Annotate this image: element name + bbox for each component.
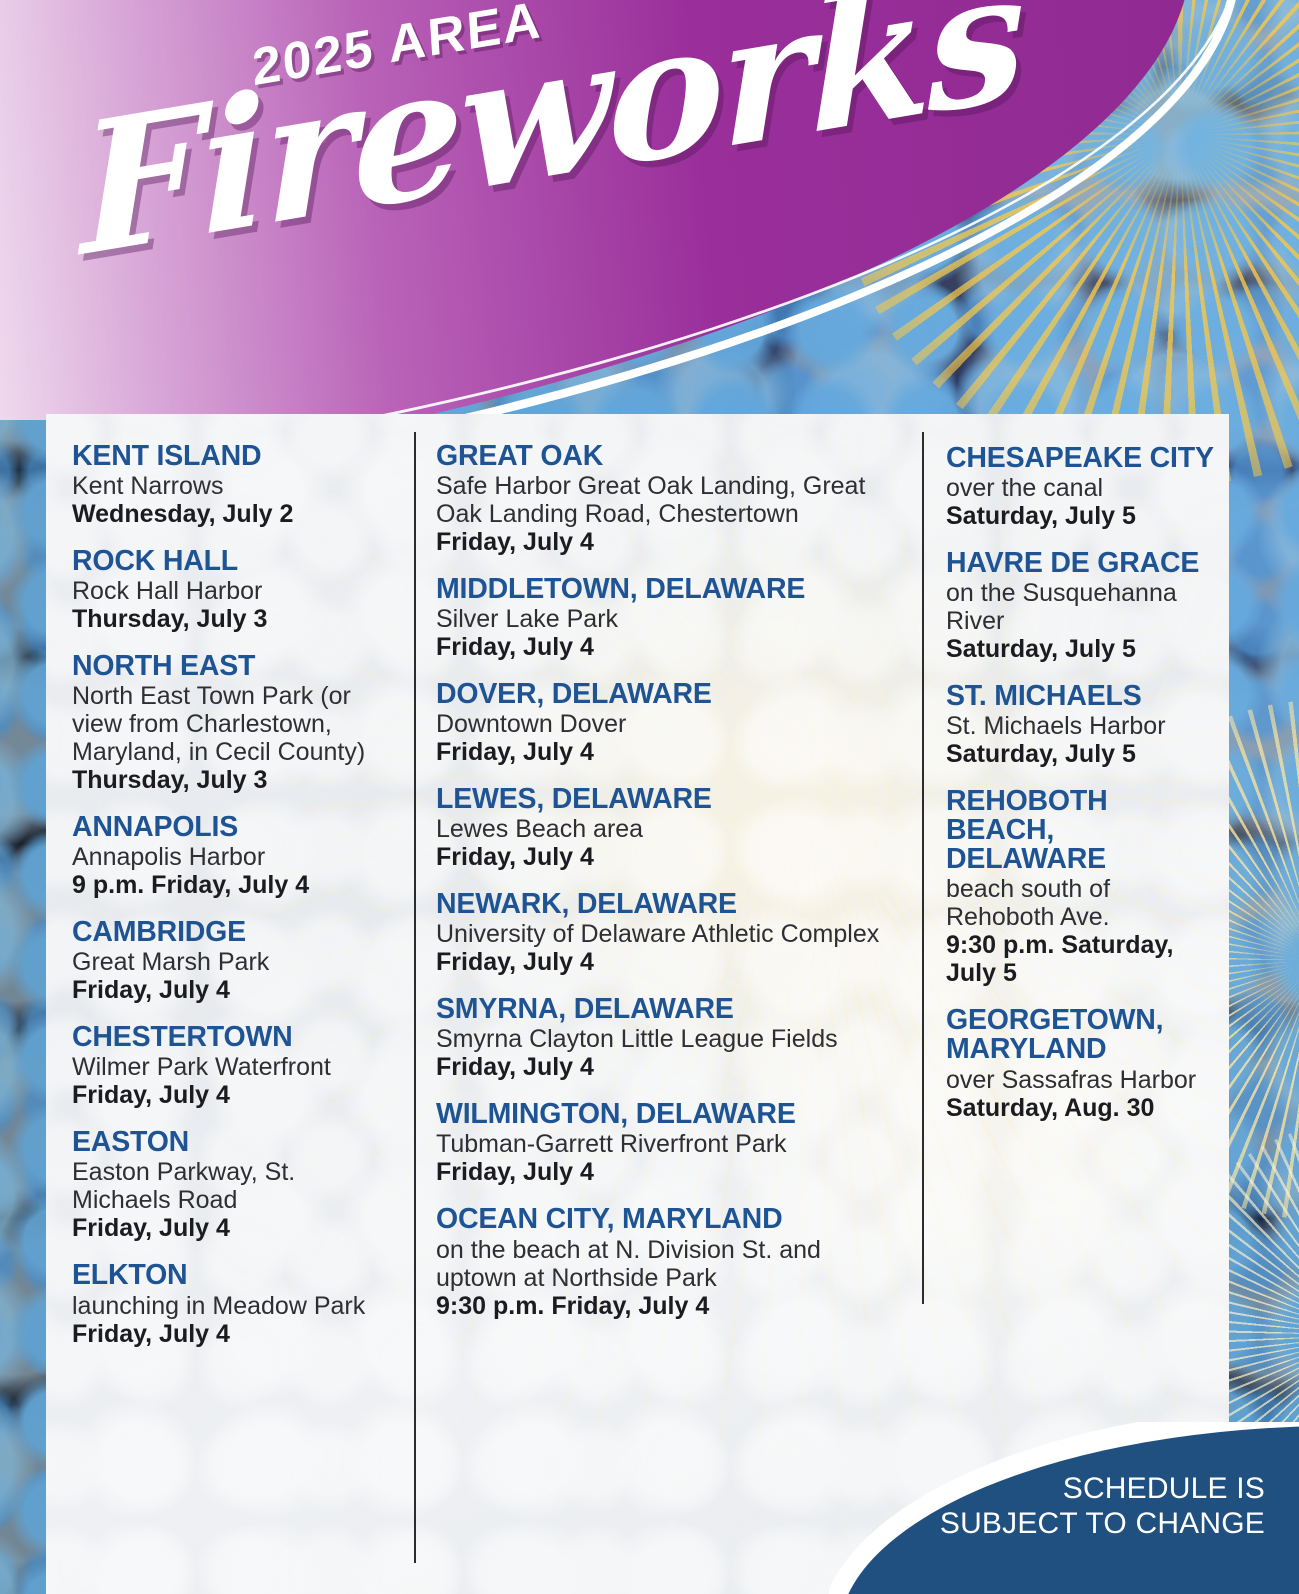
event-entry: SMYRNA, DELAWARESmyrna Clayton Little Le… <box>436 995 904 1081</box>
event-city: ST. MICHAELS <box>946 682 1219 711</box>
event-city: NORTH EAST <box>72 652 398 681</box>
event-city: KENT ISLAND <box>72 442 398 471</box>
event-entry: CHESTERTOWNWilmer Park WaterfrontFriday,… <box>72 1023 398 1109</box>
event-date: Friday, July 4 <box>72 1320 398 1348</box>
banner-line-2: SUBJECT TO CHANGE <box>940 1507 1265 1542</box>
event-location: Great Marsh Park <box>72 948 398 976</box>
schedule-column-2: GREAT OAKSafe Harbor Great Oak Landing, … <box>414 414 922 1594</box>
event-location: Silver Lake Park <box>436 605 904 633</box>
event-entry: NEWARK, DELAWAREUniversity of Delaware A… <box>436 890 904 976</box>
event-location: launching in Meadow Park <box>72 1292 398 1320</box>
event-city: NEWARK, DELAWARE <box>436 890 904 919</box>
event-location: Annapolis Harbor <box>72 843 398 871</box>
event-city: HAVRE DE GRACE <box>946 549 1219 578</box>
banner-line-1: SCHEDULE IS <box>940 1472 1265 1507</box>
event-location: Tubman-Garrett Riverfront Park <box>436 1130 904 1158</box>
schedule-column-3: CHESAPEAKE CITYover the canalSaturday, J… <box>922 414 1229 1594</box>
event-location: Safe Harbor Great Oak Landing, Great Oak… <box>436 472 904 528</box>
event-date: 9:30 p.m. Saturday, July 5 <box>946 931 1219 987</box>
schedule-panel: KENT ISLANDKent NarrowsWednesday, July 2… <box>46 414 1229 1594</box>
event-date: 9:30 p.m. Friday, July 4 <box>436 1292 904 1320</box>
event-entry: GREAT OAKSafe Harbor Great Oak Landing, … <box>436 442 904 556</box>
event-city: ROCK HALL <box>72 547 398 576</box>
event-entry: REHOBOTH BEACH, DELAWAREbeach south of R… <box>946 787 1219 987</box>
event-date: Friday, July 4 <box>436 528 904 556</box>
event-city: DOVER, DELAWARE <box>436 680 904 709</box>
event-city: CAMBRIDGE <box>72 918 398 947</box>
event-entry: HAVRE DE GRACEon the Susquehanna RiverSa… <box>946 549 1219 663</box>
event-date: Friday, July 4 <box>436 948 904 976</box>
event-date: Friday, July 4 <box>72 976 398 1004</box>
event-entry: CAMBRIDGEGreat Marsh ParkFriday, July 4 <box>72 918 398 1004</box>
event-date: Friday, July 4 <box>72 1214 398 1242</box>
event-location: Smyrna Clayton Little League Fields <box>436 1025 904 1053</box>
event-location: Wilmer Park Waterfront <box>72 1053 398 1081</box>
event-location: beach south of Rehoboth Ave. <box>946 875 1219 931</box>
event-date: Friday, July 4 <box>72 1081 398 1109</box>
event-entry: OCEAN CITY, MARYLANDon the beach at N. D… <box>436 1205 904 1319</box>
event-city: LEWES, DELAWARE <box>436 785 904 814</box>
event-city: REHOBOTH BEACH, DELAWARE <box>946 787 1219 874</box>
event-location: St. Michaels Harbor <box>946 712 1219 740</box>
event-entry: CHESAPEAKE CITYover the canalSaturday, J… <box>946 444 1219 530</box>
event-location: over Sassafras Harbor <box>946 1066 1219 1094</box>
banner-text: SCHEDULE IS SUBJECT TO CHANGE <box>940 1472 1265 1542</box>
event-city: CHESTERTOWN <box>72 1023 398 1052</box>
event-entry: MIDDLETOWN, DELAWARESilver Lake ParkFrid… <box>436 575 904 661</box>
event-date: Saturday, July 5 <box>946 740 1219 768</box>
event-city: EASTON <box>72 1128 398 1157</box>
event-date: Friday, July 4 <box>436 1053 904 1081</box>
event-date: Saturday, July 5 <box>946 635 1219 663</box>
event-date: Saturday, July 5 <box>946 502 1219 530</box>
event-location: Lewes Beach area <box>436 815 904 843</box>
event-city: MIDDLETOWN, DELAWARE <box>436 575 904 604</box>
event-entry: EASTONEaston Parkway, St. Michaels RoadF… <box>72 1128 398 1242</box>
event-entry: NORTH EASTNorth East Town Park (or view … <box>72 652 398 794</box>
event-date: Thursday, July 3 <box>72 605 398 633</box>
event-city: GREAT OAK <box>436 442 904 471</box>
event-date: 9 p.m. Friday, July 4 <box>72 871 398 899</box>
event-date: Friday, July 4 <box>436 738 904 766</box>
event-date: Friday, July 4 <box>436 843 904 871</box>
event-date: Friday, July 4 <box>436 633 904 661</box>
fireworks-schedule-poster: 2025 AREA Fireworks KENT ISLANDKent Narr… <box>0 0 1299 1594</box>
event-city: ELKTON <box>72 1261 398 1290</box>
event-city: WILMINGTON, DELAWARE <box>436 1100 904 1129</box>
event-entry: ANNAPOLISAnnapolis Harbor9 p.m. Friday, … <box>72 813 398 899</box>
event-location: on the beach at N. Division St. and upto… <box>436 1236 904 1292</box>
schedule-column-1: KENT ISLANDKent NarrowsWednesday, July 2… <box>46 414 414 1594</box>
event-entry: WILMINGTON, DELAWARETubman-Garrett River… <box>436 1100 904 1186</box>
event-entry: ST. MICHAELSSt. Michaels HarborSaturday,… <box>946 682 1219 768</box>
event-location: Rock Hall Harbor <box>72 577 398 605</box>
event-date: Friday, July 4 <box>436 1158 904 1186</box>
event-entry: DOVER, DELAWAREDowntown DoverFriday, Jul… <box>436 680 904 766</box>
event-location: Downtown Dover <box>436 710 904 738</box>
event-entry: ROCK HALLRock Hall HarborThursday, July … <box>72 547 398 633</box>
event-location: North East Town Park (or view from Charl… <box>72 682 398 766</box>
event-city: OCEAN CITY, MARYLAND <box>436 1205 904 1234</box>
event-date: Wednesday, July 2 <box>72 500 398 528</box>
event-city: CHESAPEAKE CITY <box>946 444 1219 473</box>
event-location: University of Delaware Athletic Complex <box>436 920 904 948</box>
event-entry: ELKTONlaunching in Meadow ParkFriday, Ju… <box>72 1261 398 1347</box>
schedule-columns: KENT ISLANDKent NarrowsWednesday, July 2… <box>46 414 1229 1594</box>
schedule-notice-banner: SCHEDULE IS SUBJECT TO CHANGE <box>829 1422 1299 1594</box>
event-city: GEORGETOWN, MARYLAND <box>946 1006 1219 1064</box>
event-location: Kent Narrows <box>72 472 398 500</box>
poster-header: 2025 AREA Fireworks <box>0 0 1299 420</box>
event-city: ANNAPOLIS <box>72 813 398 842</box>
event-entry: GEORGETOWN, MARYLANDover Sassafras Harbo… <box>946 1006 1219 1121</box>
event-date: Saturday, Aug. 30 <box>946 1094 1219 1122</box>
event-location: Easton Parkway, St. Michaels Road <box>72 1158 398 1214</box>
event-entry: LEWES, DELAWARELewes Beach areaFriday, J… <box>436 785 904 871</box>
event-date: Thursday, July 3 <box>72 766 398 794</box>
event-city: SMYRNA, DELAWARE <box>436 995 904 1024</box>
event-location: over the canal <box>946 474 1219 502</box>
event-location: on the Susquehanna River <box>946 579 1219 635</box>
event-entry: KENT ISLANDKent NarrowsWednesday, July 2 <box>72 442 398 528</box>
